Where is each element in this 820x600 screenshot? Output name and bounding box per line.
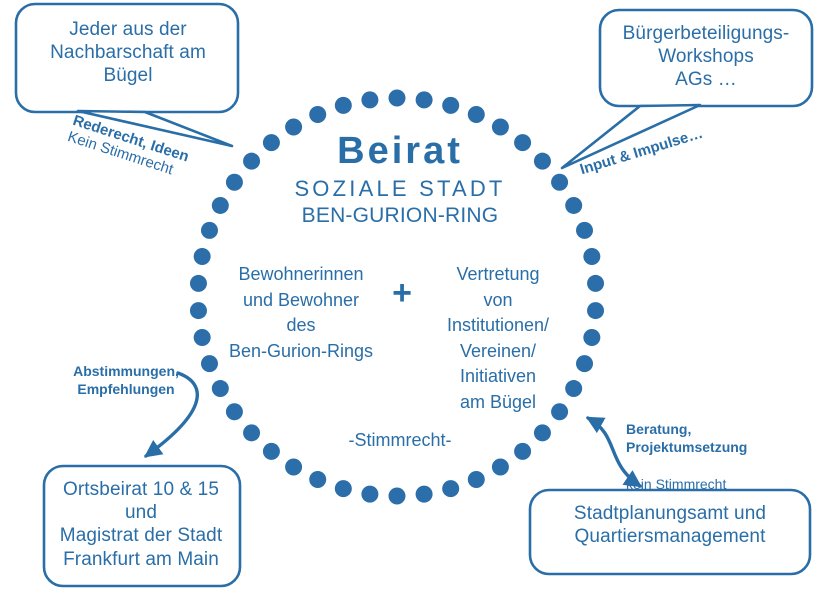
ring-dot bbox=[212, 380, 229, 397]
ring-dot bbox=[514, 443, 531, 460]
ring-dot bbox=[361, 91, 378, 108]
ring-dot bbox=[263, 443, 280, 460]
page-title-beirat: Beirat bbox=[250, 128, 550, 174]
ring-dot bbox=[389, 488, 406, 505]
ring-dot bbox=[389, 90, 406, 107]
plus-icon: + bbox=[386, 276, 418, 310]
ring-dot bbox=[226, 174, 243, 191]
ring-dot bbox=[583, 329, 600, 346]
speech-bubble-top-left-label: Jeder aus der Nachbarschaft am Bügel bbox=[22, 18, 234, 88]
center-voting-note: -Stimmrecht- bbox=[320, 430, 480, 452]
box-ortsbeirat-magistrat-label: Ortsbeirat 10 & 15 und Magistrat der Sta… bbox=[38, 478, 244, 571]
ring-dot bbox=[551, 174, 568, 191]
connector-label-abstimmungen: Abstimmungen, Empfehlungen bbox=[46, 362, 206, 398]
ring-dot bbox=[201, 222, 218, 239]
ring-dot bbox=[468, 471, 485, 488]
ring-dot bbox=[583, 248, 600, 265]
ring-dot bbox=[492, 459, 509, 476]
ring-dot bbox=[442, 480, 459, 497]
page-subtitle-soziale-stadt: SOZIALE STADT bbox=[250, 176, 550, 203]
ring-dot bbox=[361, 486, 378, 503]
ring-dot bbox=[212, 197, 229, 214]
ring-dot bbox=[243, 424, 260, 441]
ring-dot bbox=[416, 91, 433, 108]
center-left-column-bewohner: Bewohnerinnen und Bewohner des Ben-Gurio… bbox=[208, 262, 394, 364]
ring-dot bbox=[468, 106, 485, 123]
ring-dot bbox=[335, 97, 352, 114]
ring-dot bbox=[190, 302, 207, 319]
ring-dot bbox=[335, 480, 352, 497]
ring-dot bbox=[309, 106, 326, 123]
connector-label-beratung-bold: Beratung, Projektumsetzung bbox=[626, 420, 806, 456]
ring-dot bbox=[285, 459, 302, 476]
connector-label-beratung-regular: kein Stimmrecht bbox=[626, 475, 806, 493]
connector-label-beratung: Beratung, Projektumsetzung kein Stimmrec… bbox=[626, 402, 806, 511]
ring-dot bbox=[190, 275, 207, 292]
ring-dot bbox=[576, 222, 593, 239]
speech-bubble-top-right-label: Bürgerbeteiligungs- Workshops AGs … bbox=[604, 22, 808, 92]
ring-dot bbox=[534, 424, 551, 441]
ring-dot bbox=[576, 355, 593, 372]
page-subtitle-ben-gurion-ring: BEN-GURION-RING bbox=[250, 203, 550, 229]
ring-dot bbox=[565, 197, 582, 214]
ring-dot bbox=[226, 403, 243, 420]
diagram-canvas: Jeder aus der Nachbarschaft am Bügel Bür… bbox=[0, 0, 820, 600]
ring-dot bbox=[442, 97, 459, 114]
ring-dot bbox=[587, 275, 604, 292]
ring-dot bbox=[309, 471, 326, 488]
center-right-column-vertretung: Vertretung von Institutionen/ Vereinen/ … bbox=[420, 262, 576, 415]
ring-dot bbox=[587, 302, 604, 319]
ring-dot bbox=[416, 486, 433, 503]
